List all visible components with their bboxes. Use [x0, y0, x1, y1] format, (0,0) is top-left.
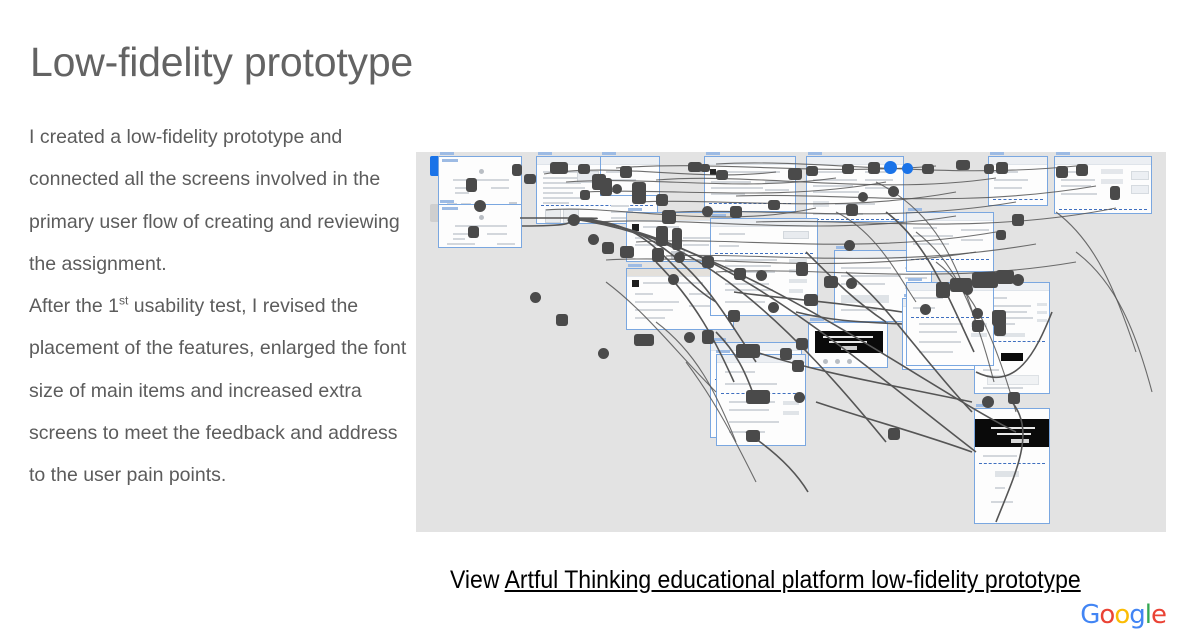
connector-node: [888, 186, 899, 197]
connector-node: [588, 234, 599, 245]
connector-node: [512, 164, 522, 176]
connector-node: [662, 210, 676, 224]
connector-node: [728, 310, 740, 322]
connector-node: [936, 282, 950, 298]
logo-letter-g-lower: g: [1129, 600, 1145, 630]
connector-node: [756, 270, 767, 281]
connector-node: [1012, 214, 1024, 226]
connector-node: [602, 242, 614, 254]
connector-node: [556, 314, 568, 326]
connector-node: [578, 164, 590, 174]
connector-node: [656, 194, 668, 206]
connector-node: [992, 310, 1006, 326]
connector-node: [580, 190, 590, 200]
prototype-link[interactable]: Artful Thinking educational platform low…: [505, 566, 1081, 594]
connector-node: [746, 390, 770, 404]
connector-node: [634, 334, 654, 346]
connector-node: [888, 428, 900, 440]
connector-node: [730, 206, 742, 218]
connector-node: [922, 164, 934, 174]
connector-node: [1056, 166, 1068, 178]
connector-node: [956, 160, 970, 170]
caption-prefix: View: [450, 566, 505, 594]
prototype-canvas-image: [416, 152, 1166, 532]
connector-node: [996, 162, 1008, 174]
connector-node: [1008, 392, 1020, 404]
connector-node: [788, 168, 802, 180]
body-paragraph-2-pre: After the 1: [29, 295, 119, 317]
connector-node: [824, 276, 838, 288]
connector-node: [996, 230, 1006, 240]
connector-node: [530, 292, 541, 303]
connector-node: [466, 178, 477, 192]
connector-node: [656, 226, 668, 246]
connector-node: [984, 164, 994, 174]
connector-node: [858, 192, 868, 202]
connector-node: [806, 166, 818, 176]
google-logo: Google: [1080, 600, 1166, 630]
connector-node: [668, 274, 679, 285]
connector-node: [524, 174, 536, 184]
connector-node: [982, 396, 994, 408]
body-paragraph-1: I created a low-fidelity prototype and c…: [29, 116, 409, 285]
connector-node: [794, 392, 805, 403]
connector-node: [920, 304, 931, 315]
logo-letter-g-upper: G: [1080, 600, 1099, 630]
connector-node: [716, 170, 728, 180]
logo-letter-e: e: [1151, 600, 1166, 630]
prototype-connector-wires: [416, 152, 1166, 532]
connector-node: [844, 240, 855, 251]
connector-node: [550, 162, 568, 174]
connector-node: [792, 360, 804, 372]
logo-letter-o-2: o: [1114, 600, 1129, 630]
connector-node: [700, 164, 710, 172]
connector-node: [672, 228, 682, 250]
connector-node: [600, 178, 612, 196]
connector-node: [846, 204, 858, 216]
body-paragraph-2: After the 1st usability test, I revised …: [29, 285, 409, 496]
figure-caption: View Artful Thinking educational platfor…: [450, 566, 1081, 595]
connector-node: [702, 256, 714, 268]
figma-canvas: [416, 152, 1166, 532]
connector-node: [972, 320, 984, 332]
selected-connector-node: [884, 161, 897, 174]
connector-node: [868, 162, 880, 174]
connector-node: [474, 200, 486, 212]
connector-node: [768, 200, 780, 210]
body-paragraph-2-post: usability test, I revised the placement …: [29, 295, 406, 486]
connector-node: [996, 270, 1014, 284]
connector-node: [746, 430, 760, 442]
connector-node: [780, 348, 792, 360]
connector-node: [846, 278, 857, 289]
logo-letter-o-1: o: [1099, 600, 1114, 630]
connector-node: [684, 332, 695, 343]
connector-node: [972, 272, 998, 288]
connector-node: [842, 164, 854, 174]
connector-node: [598, 348, 609, 359]
connector-node: [612, 184, 622, 194]
connector-node: [972, 308, 983, 319]
connector-node: [702, 330, 714, 344]
connector-node: [736, 344, 760, 358]
connector-node: [652, 248, 664, 262]
connector-node: [796, 262, 808, 276]
connector-node: [468, 226, 479, 238]
connector-node: [950, 278, 972, 292]
connector-node: [1012, 274, 1024, 286]
connector-node: [674, 252, 685, 263]
connector-node: [804, 294, 818, 306]
connector-node: [568, 214, 580, 226]
connector-node: [620, 246, 634, 258]
connector-node: [632, 182, 646, 204]
connector-node: [768, 302, 779, 313]
connector-node: [796, 338, 808, 350]
connector-node: [702, 206, 713, 217]
ordinal-suffix: st: [119, 294, 128, 308]
connector-node: [1076, 164, 1088, 176]
body-text-block: I created a low-fidelity prototype and c…: [29, 116, 409, 497]
connector-node: [620, 166, 632, 178]
connector-node: [1110, 186, 1120, 200]
selected-connector-node: [902, 163, 913, 174]
connector-node: [734, 268, 746, 280]
page-title: Low-fidelity prototype: [30, 36, 413, 88]
